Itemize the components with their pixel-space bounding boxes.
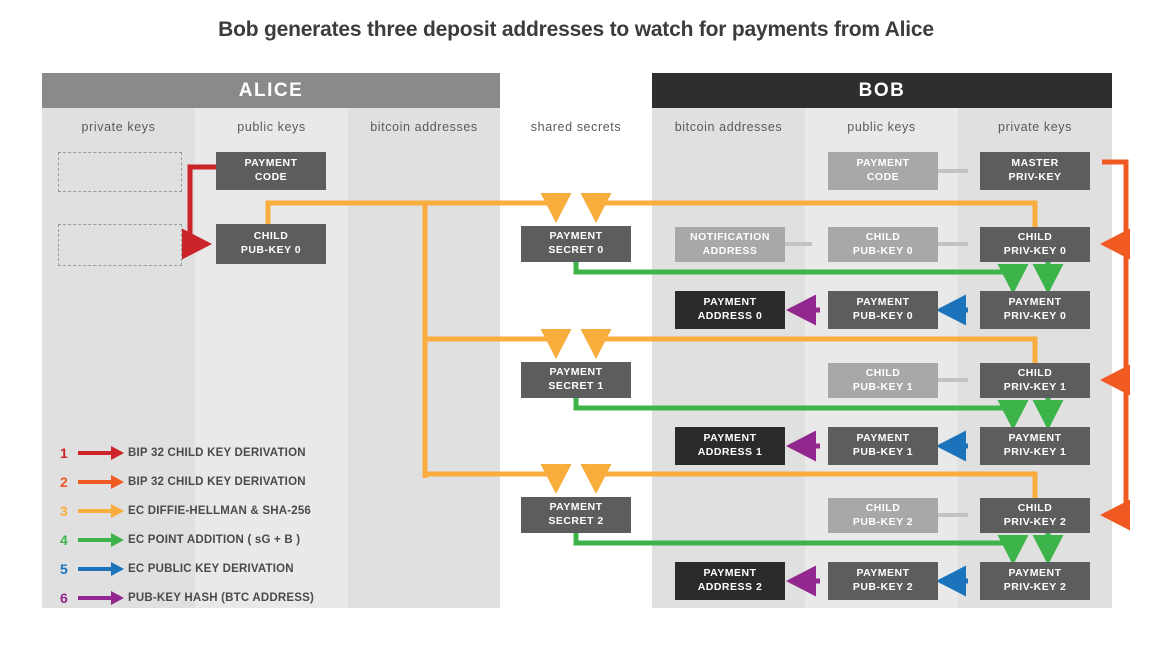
box-payment-address-1[interactable]: PAYMENT ADDRESS 1 — [675, 427, 785, 465]
legend-item-3: 3 EC DIFFIE-HELLMAN & SHA-256 — [60, 496, 314, 525]
box-line-1: PAYMENT — [856, 567, 909, 581]
legend-label: EC POINT ADDITION ( sG + B ) — [128, 534, 300, 546]
box-line-1: CHILD — [1018, 502, 1053, 516]
arrow-red-alice-derivation — [190, 167, 216, 244]
box-line-1: CHILD — [254, 230, 289, 244]
box-line-1: PAYMENT — [856, 432, 909, 446]
box-line-1: PAYMENT — [703, 567, 756, 581]
box-line-2: PUB-KEY 2 — [853, 581, 913, 595]
box-payment-address-2[interactable]: PAYMENT ADDRESS 2 — [675, 562, 785, 600]
box-line-2: PRIV-KEY 1 — [1004, 381, 1067, 395]
legend-label: EC DIFFIE-HELLMAN & SHA-256 — [128, 505, 311, 517]
box-line-1: CHILD — [1018, 231, 1053, 245]
box-line-2: ADDRESS 0 — [698, 310, 763, 324]
box-line-1: PAYMENT — [1008, 296, 1061, 310]
box-bob-child-pubkey-2[interactable]: CHILD PUB-KEY 2 — [828, 498, 938, 533]
legend-item-1: 1 BIP 32 CHILD KEY DERIVATION — [60, 438, 314, 467]
legend-item-6: 6 PUB-KEY HASH (BTC ADDRESS) — [60, 583, 314, 612]
legend-arrow-icon — [78, 475, 124, 489]
box-line-2: SECRET 0 — [548, 244, 603, 258]
legend-arrow-icon — [78, 446, 124, 460]
box-notification-address[interactable]: NOTIFICATION ADDRESS — [675, 227, 785, 262]
box-line-1: PAYMENT — [549, 230, 602, 244]
legend-number: 1 — [60, 445, 76, 461]
box-payment-privkey-0[interactable]: PAYMENT PRIV-KEY 0 — [980, 291, 1090, 329]
box-line-2: ADDRESS 1 — [698, 446, 763, 460]
legend-item-4: 4 EC POINT ADDITION ( sG + B ) — [60, 525, 314, 554]
box-line-2: PRIV-KEY 1 — [1004, 446, 1067, 460]
box-line-1: MASTER — [1011, 157, 1058, 171]
box-line-1: PAYMENT — [856, 296, 909, 310]
box-line-2: PUB-KEY 2 — [853, 516, 913, 530]
arrow-green-secret2-to-privkey2 — [576, 533, 1013, 561]
box-line-1: PAYMENT — [549, 366, 602, 380]
legend-item-2: 2 BIP 32 CHILD KEY DERIVATION — [60, 467, 314, 496]
box-bob-child-pubkey-0[interactable]: CHILD PUB-KEY 0 — [828, 227, 938, 262]
box-line-2: ADDRESS 2 — [698, 581, 763, 595]
box-line-2: PUB-KEY 0 — [241, 244, 301, 258]
orange-branch-secret1-right — [596, 339, 1035, 363]
legend-arrow-icon — [78, 591, 124, 605]
box-line-1: PAYMENT — [1008, 432, 1061, 446]
box-line-2: SECRET 1 — [548, 380, 603, 394]
box-line-1: PAYMENT — [1008, 567, 1061, 581]
orange-alice-trunk-up — [268, 203, 425, 224]
box-line-1: PAYMENT — [856, 157, 909, 171]
box-bob-child-privkey-0[interactable]: CHILD PRIV-KEY 0 — [980, 227, 1090, 262]
box-line-1: PAYMENT — [549, 501, 602, 515]
legend: 1 BIP 32 CHILD KEY DERIVATION 2 BIP 32 C… — [60, 438, 314, 612]
alice-placeholder-privkey-1 — [58, 224, 182, 266]
diagram-canvas: Bob generates three deposit addresses to… — [0, 0, 1152, 649]
legend-number: 5 — [60, 561, 76, 577]
box-line-2: PRIV-KEY 0 — [1004, 310, 1067, 324]
arrow-green-secret0-to-privkey0 — [576, 262, 1013, 290]
box-line-2: PUB-KEY 0 — [853, 310, 913, 324]
arrow-green-secret1-to-privkey1 — [576, 398, 1013, 426]
orange-branch-secret2-left — [425, 474, 556, 490]
legend-label: BIP 32 CHILD KEY DERIVATION — [128, 447, 306, 459]
box-line-2: SECRET 2 — [548, 515, 603, 529]
legend-number: 6 — [60, 590, 76, 606]
box-line-1: NOTIFICATION — [690, 231, 770, 245]
orange-branch-secret0-right — [596, 203, 1035, 227]
arrow-orangered-master-to-child1 — [1104, 244, 1126, 380]
box-payment-pubkey-2[interactable]: PAYMENT PUB-KEY 2 — [828, 562, 938, 600]
box-line-2: CODE — [255, 171, 287, 185]
box-line-1: CHILD — [1018, 367, 1053, 381]
legend-label: PUB-KEY HASH (BTC ADDRESS) — [128, 592, 314, 604]
box-alice-child-pubkey-0[interactable]: CHILD PUB-KEY 0 — [216, 224, 326, 264]
arrow-orangered-master-to-child0 — [1102, 162, 1126, 244]
box-line-1: PAYMENT — [703, 296, 756, 310]
box-payment-secret-1[interactable]: PAYMENT SECRET 1 — [521, 362, 631, 398]
box-bob-master-privkey[interactable]: MASTER PRIV-KEY — [980, 152, 1090, 190]
legend-label: BIP 32 CHILD KEY DERIVATION — [128, 476, 306, 488]
box-payment-secret-0[interactable]: PAYMENT SECRET 0 — [521, 226, 631, 262]
legend-label: EC PUBLIC KEY DERIVATION — [128, 563, 294, 575]
box-payment-secret-2[interactable]: PAYMENT SECRET 2 — [521, 497, 631, 533]
box-line-2: PUB-KEY 0 — [853, 245, 913, 259]
legend-arrow-icon — [78, 504, 124, 518]
box-payment-pubkey-0[interactable]: PAYMENT PUB-KEY 0 — [828, 291, 938, 329]
box-payment-privkey-2[interactable]: PAYMENT PRIV-KEY 2 — [980, 562, 1090, 600]
box-line-1: PAYMENT — [703, 432, 756, 446]
box-line-1: PAYMENT — [244, 157, 297, 171]
legend-number: 4 — [60, 532, 76, 548]
orange-branch-secret0-left — [425, 203, 556, 219]
box-line-1: CHILD — [866, 231, 901, 245]
alice-placeholder-privkey-0 — [58, 152, 182, 192]
box-line-2: PRIV-KEY — [1008, 171, 1061, 185]
box-payment-address-0[interactable]: PAYMENT ADDRESS 0 — [675, 291, 785, 329]
box-line-2: CODE — [867, 171, 899, 185]
box-bob-child-privkey-1[interactable]: CHILD PRIV-KEY 1 — [980, 363, 1090, 398]
legend-number: 3 — [60, 503, 76, 519]
box-bob-child-pubkey-1[interactable]: CHILD PUB-KEY 1 — [828, 363, 938, 398]
arrow-orangered-master-to-child2 — [1104, 380, 1126, 515]
orange-branch-secret2-right — [596, 474, 1035, 498]
orange-branch-secret1-left — [425, 339, 556, 355]
box-alice-payment-code[interactable]: PAYMENT CODE — [216, 152, 326, 190]
box-line-1: CHILD — [866, 502, 901, 516]
box-line-2: PRIV-KEY 0 — [1004, 245, 1067, 259]
box-line-2: ADDRESS — [703, 245, 758, 259]
legend-item-5: 5 EC PUBLIC KEY DERIVATION — [60, 554, 314, 583]
box-bob-child-privkey-2[interactable]: CHILD PRIV-KEY 2 — [980, 498, 1090, 533]
box-payment-privkey-1[interactable]: PAYMENT PRIV-KEY 1 — [980, 427, 1090, 465]
legend-arrow-icon — [78, 533, 124, 547]
box-line-2: PRIV-KEY 2 — [1004, 516, 1067, 530]
box-line-1: CHILD — [866, 367, 901, 381]
legend-number: 2 — [60, 474, 76, 490]
box-line-2: PUB-KEY 1 — [853, 446, 913, 460]
box-line-2: PRIV-KEY 2 — [1004, 581, 1067, 595]
box-bob-payment-code[interactable]: PAYMENT CODE — [828, 152, 938, 190]
box-line-2: PUB-KEY 1 — [853, 381, 913, 395]
legend-arrow-icon — [78, 562, 124, 576]
box-payment-pubkey-1[interactable]: PAYMENT PUB-KEY 1 — [828, 427, 938, 465]
